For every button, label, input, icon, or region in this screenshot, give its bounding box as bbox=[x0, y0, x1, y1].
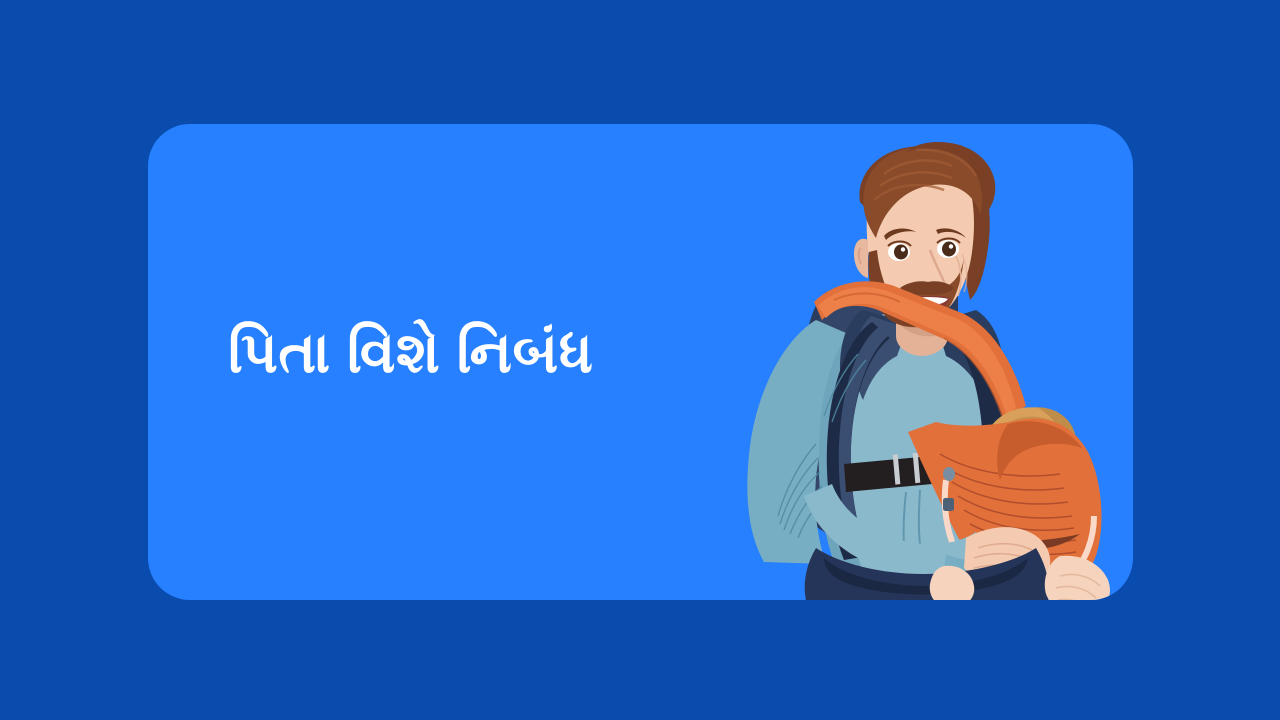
page-title: પિતા વિશે નિબંધ bbox=[228, 320, 768, 387]
poster-canvas: પિતા વિશે નિબંધ bbox=[0, 0, 1280, 720]
baby-leg bbox=[1045, 556, 1110, 600]
illustration-svg bbox=[708, 124, 1133, 600]
father-carrying-baby-illustration bbox=[708, 124, 1133, 600]
content-card: પિતા વિશે નિબંધ bbox=[148, 124, 1133, 600]
ear bbox=[854, 239, 868, 278]
